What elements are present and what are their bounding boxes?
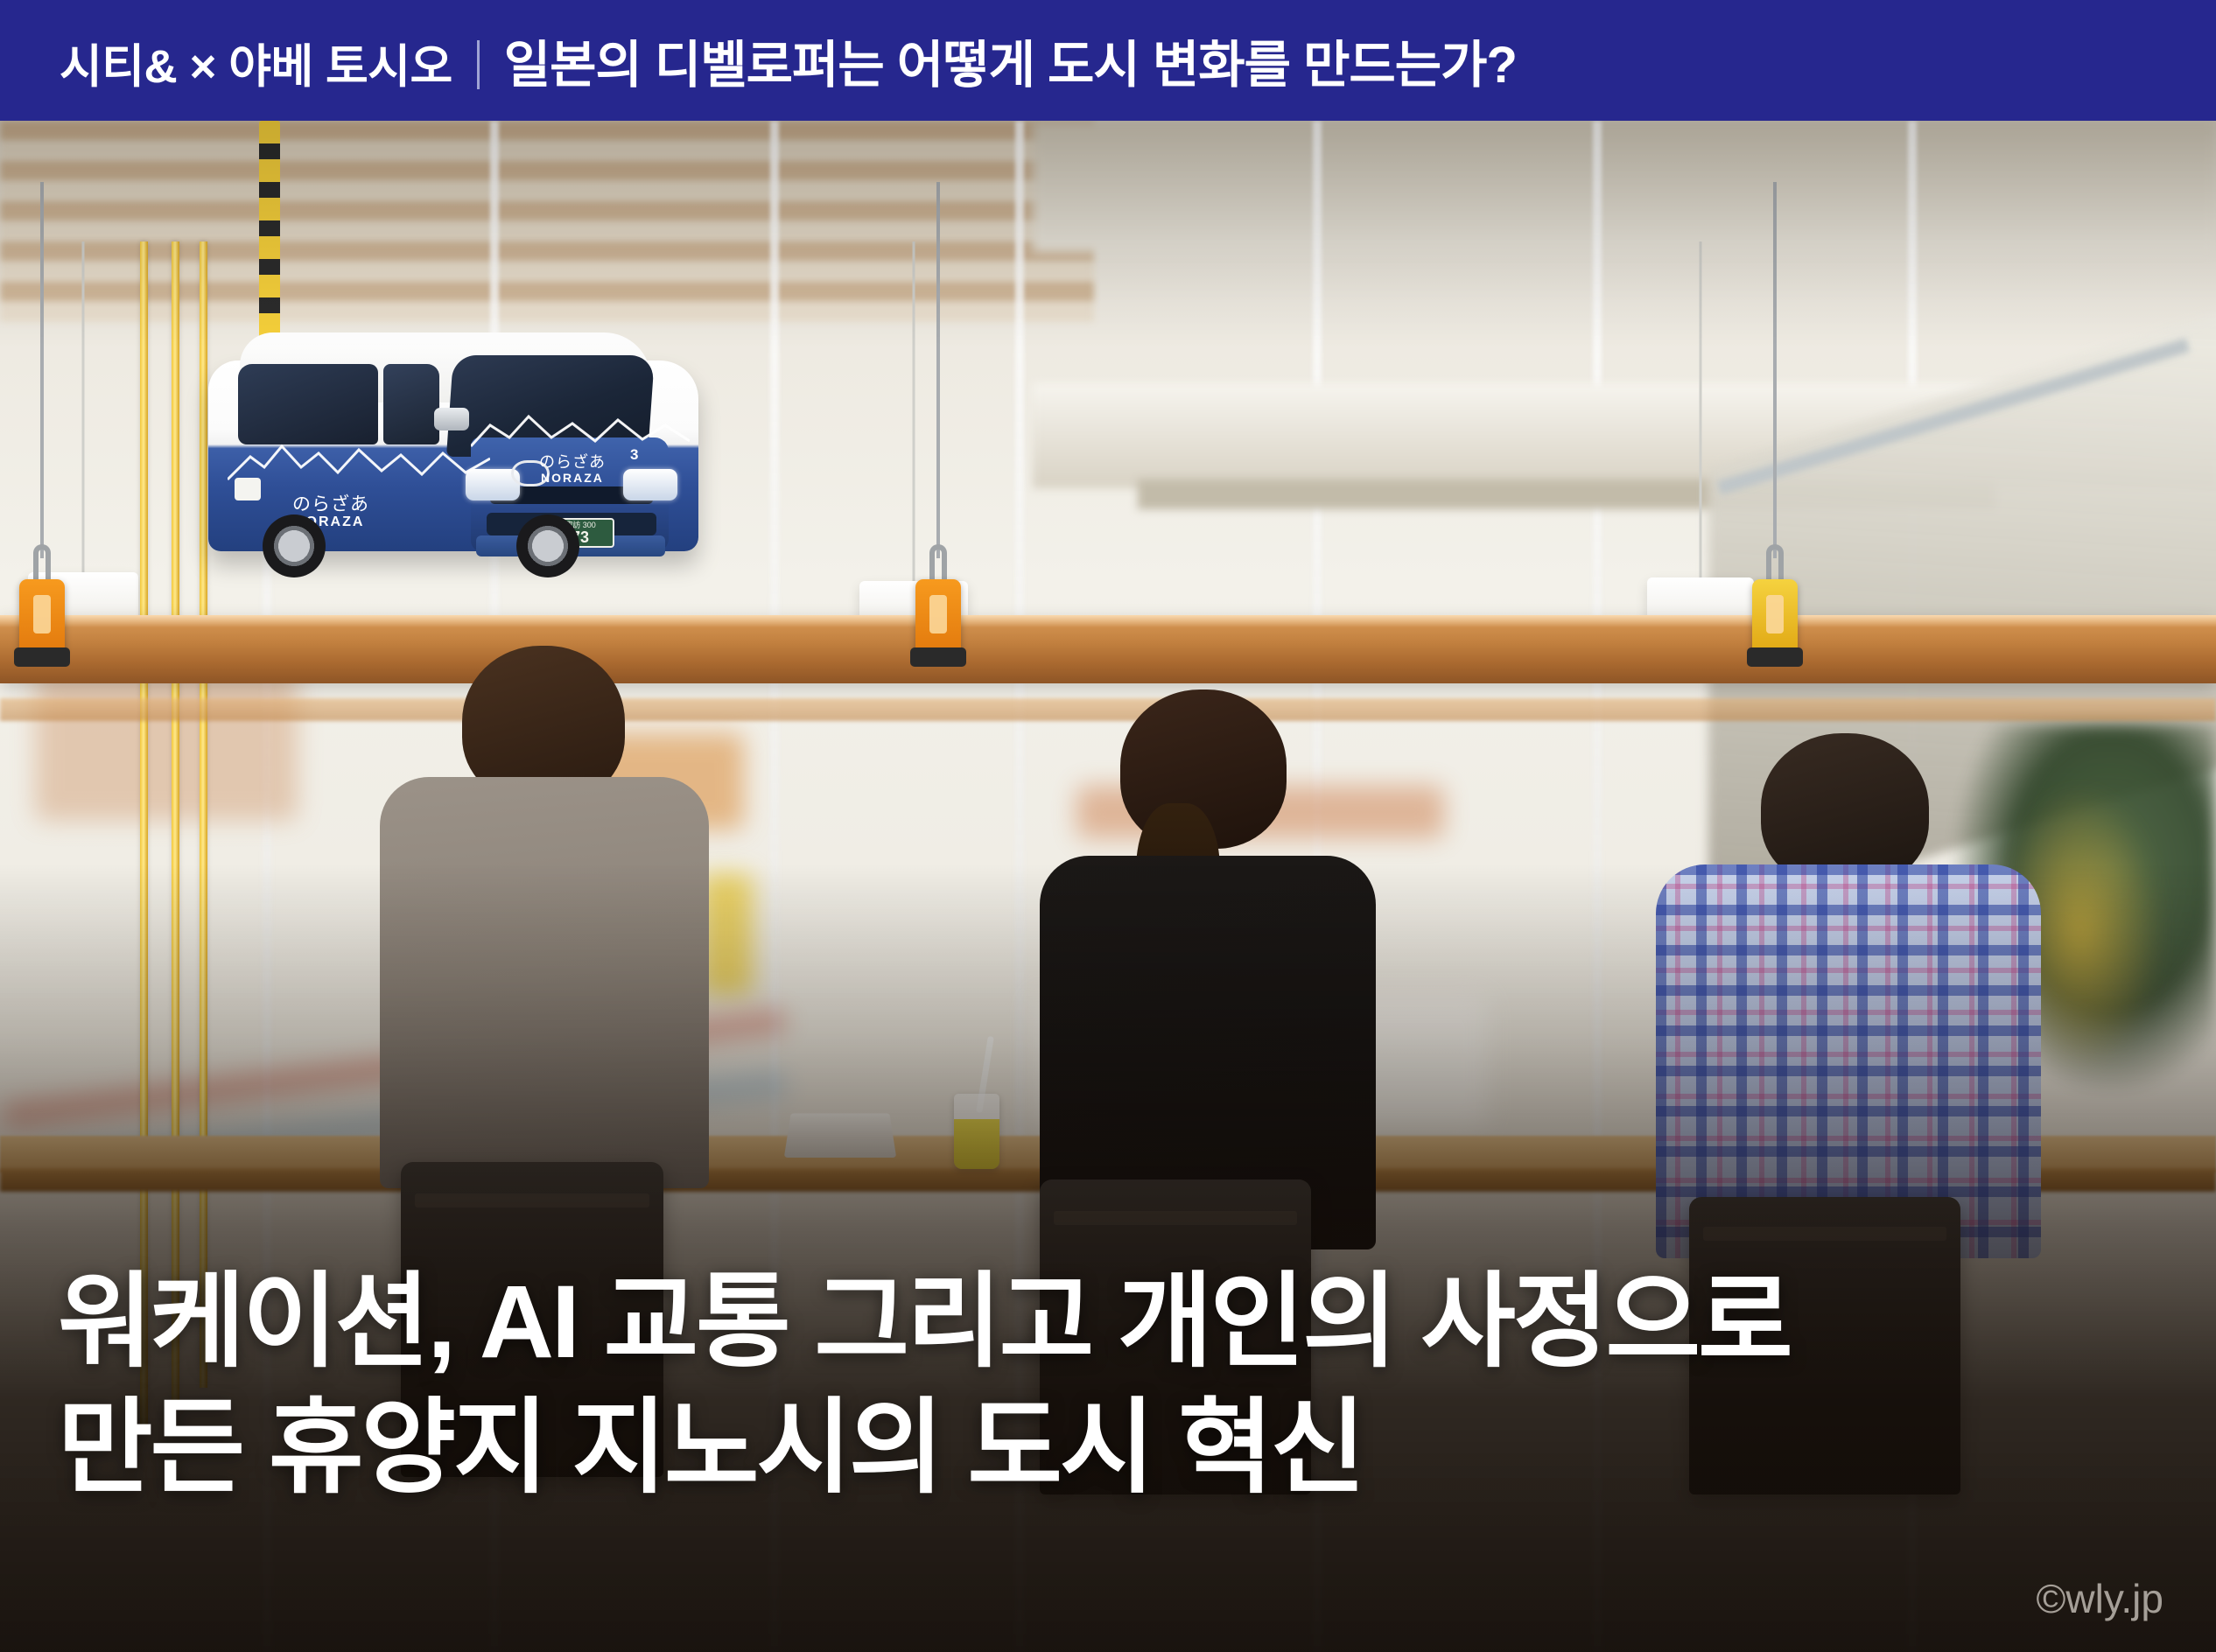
top-shadow-overlay [0, 121, 2216, 348]
orange-clamp [19, 549, 65, 654]
noraza-van-image: のらざあ NORAZA のらざあ NORAZA 3 諏訪 300 73 [208, 306, 725, 595]
van-headlight [623, 469, 677, 500]
clamp-slot [929, 595, 947, 633]
van-wheel [263, 514, 326, 577]
clamp-slot [1766, 595, 1784, 633]
mountain-graphic-icon [228, 437, 490, 483]
orange-clamp [915, 549, 961, 654]
orange-clamp [1752, 549, 1798, 654]
header-divider [477, 40, 480, 89]
header-title: 일본의 디벨로퍼는 어떻게 도시 변화를 만드는가? [504, 24, 1517, 97]
copyright-watermark: ©wly.jp [2036, 1575, 2163, 1622]
van-side-mirror [434, 408, 469, 430]
clamp-foot [14, 647, 70, 667]
header-inner: 시티& × 야베 토시오 일본의 디벨로퍼는 어떻게 도시 변화를 만드는가? [0, 24, 1517, 97]
van-brand-jp: のらざあ [292, 490, 369, 516]
headline-line-2: 만든 휴양지 지노시의 도시 혁신 [58, 1386, 2123, 1512]
headline-line-1: 워케이션, AI 교통 그리고 개인의 사정으로 [58, 1260, 2123, 1386]
van-brand-jp-front: のらざあ [539, 450, 606, 472]
header-bar: 시티& × 야베 토시오 일본의 디벨로퍼는 어떻게 도시 변화를 만드는가? [0, 0, 2216, 121]
van-side-window [383, 364, 439, 444]
mountain-graphic-icon [471, 409, 690, 450]
headline: 워케이션, AI 교통 그리고 개인의 사정으로 만든 휴양지 지노시의 도시 … [58, 1260, 2123, 1512]
van-brand-en-front: NORAZA [541, 471, 604, 485]
background-shelf-left [35, 663, 298, 821]
clamp-slot [33, 595, 51, 633]
van-wheel [516, 514, 579, 577]
clamp-foot [1747, 647, 1803, 667]
clamp-foot [910, 647, 966, 667]
wooden-beam-highlight [0, 615, 2216, 627]
van-badge-number: 3 [630, 446, 638, 464]
bottom-gradient-overlay [0, 864, 2216, 1652]
van-side-window [238, 364, 378, 444]
van-bicycle-sticker [235, 478, 261, 500]
article-hero-card: 시티& × 야베 토시오 일본의 디벨로퍼는 어떻게 도시 변화를 만드는가? [0, 0, 2216, 1652]
header-series-label: 시티& × 야베 토시오 [60, 30, 452, 96]
